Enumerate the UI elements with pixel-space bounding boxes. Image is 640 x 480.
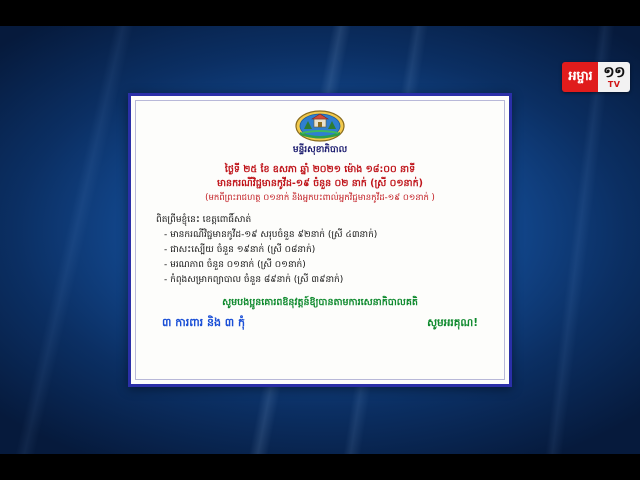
detail-block: ពិតព្រីមខ្ញុំនេះ ខេត្តពោធិ៍សាត់ - មានករណ… [148,213,492,287]
headline-line-1: ថ្ងៃទី ២៥ ខែ ឧសភា ឆ្នាំ ២០២១ ម៉ោង ១៨:០០ … [148,163,492,177]
detail-lead: ពិតព្រីមខ្ញុំនេះ ខេត្តពោធិ៍សាត់ [156,213,492,228]
letterbox-bar-top [0,0,640,26]
headline-line-3: (មកពីព្រះរាជហត្ថ ០១នាក់ និងអ្នកបះពាល់អ្ន… [148,192,492,205]
organization-name: មន្ទីរសុខាភិបាល [293,144,347,157]
slogan-left: ៣ ការពារ និង ៣ កុំ [162,316,245,332]
channel-logo-tv: TV [608,81,621,89]
letterbox-bar-bottom [0,454,640,480]
slogan-row: ៣ ការពារ និង ៣ កុំ សូមអរគុណ! [148,316,492,332]
advisory-note: សូមបងប្អូនគោរពឱនុវត្តន៍ឱ្យបានតាមការសេនាក… [148,295,492,310]
detail-item: - មរណភាព ចំនួន ០១នាក់ (ស្រី ០១នាក់) [156,258,492,273]
slogan-right: សូមអរគុណ! [427,317,478,332]
headline-block: ថ្ងៃទី ២៥ ខែ ឧសភា ឆ្នាំ ២០២១ ម៉ោង ១៨:០០ … [148,163,492,204]
announcement-card: មន្ទីរសុខាភិបាល ថ្ងៃទី ២៥ ខែ ឧសភា ឆ្នាំ … [128,93,512,387]
detail-item: - កំពុងសម្រាកព្យាបាល ចំនួន ៨៩នាក់ (ស្រី … [156,273,492,288]
channel-logo-number: ១១ [603,65,625,80]
broadcast-screen: អម្ចារ ១១ TV មន្ទីរសុខាភ [0,0,640,480]
announcement-card-inner: មន្ទីរសុខាភិបាល ថ្ងៃទី ២៥ ខែ ឧសភា ឆ្នាំ … [135,100,505,380]
national-emblem-icon [294,109,346,143]
headline-line-2: មានករណីវិជ្ជមានកូវីដ-១៩ ចំនួន ០២ នាក់ (ស… [148,177,492,191]
channel-logo-right: ១១ TV [598,62,630,92]
channel-logo: អម្ចារ ១១ TV [562,62,630,92]
detail-item: - ជាសះស្បើយ ចំនួន ១៩នាក់ (ស្រី ០៨នាក់) [156,243,492,258]
detail-item: - មានករណីវិជ្ជមានកូវីដ-១៩ សរុបចំនួន ៩២នា… [156,228,492,243]
channel-logo-brand: អម្ចារ [562,62,598,92]
